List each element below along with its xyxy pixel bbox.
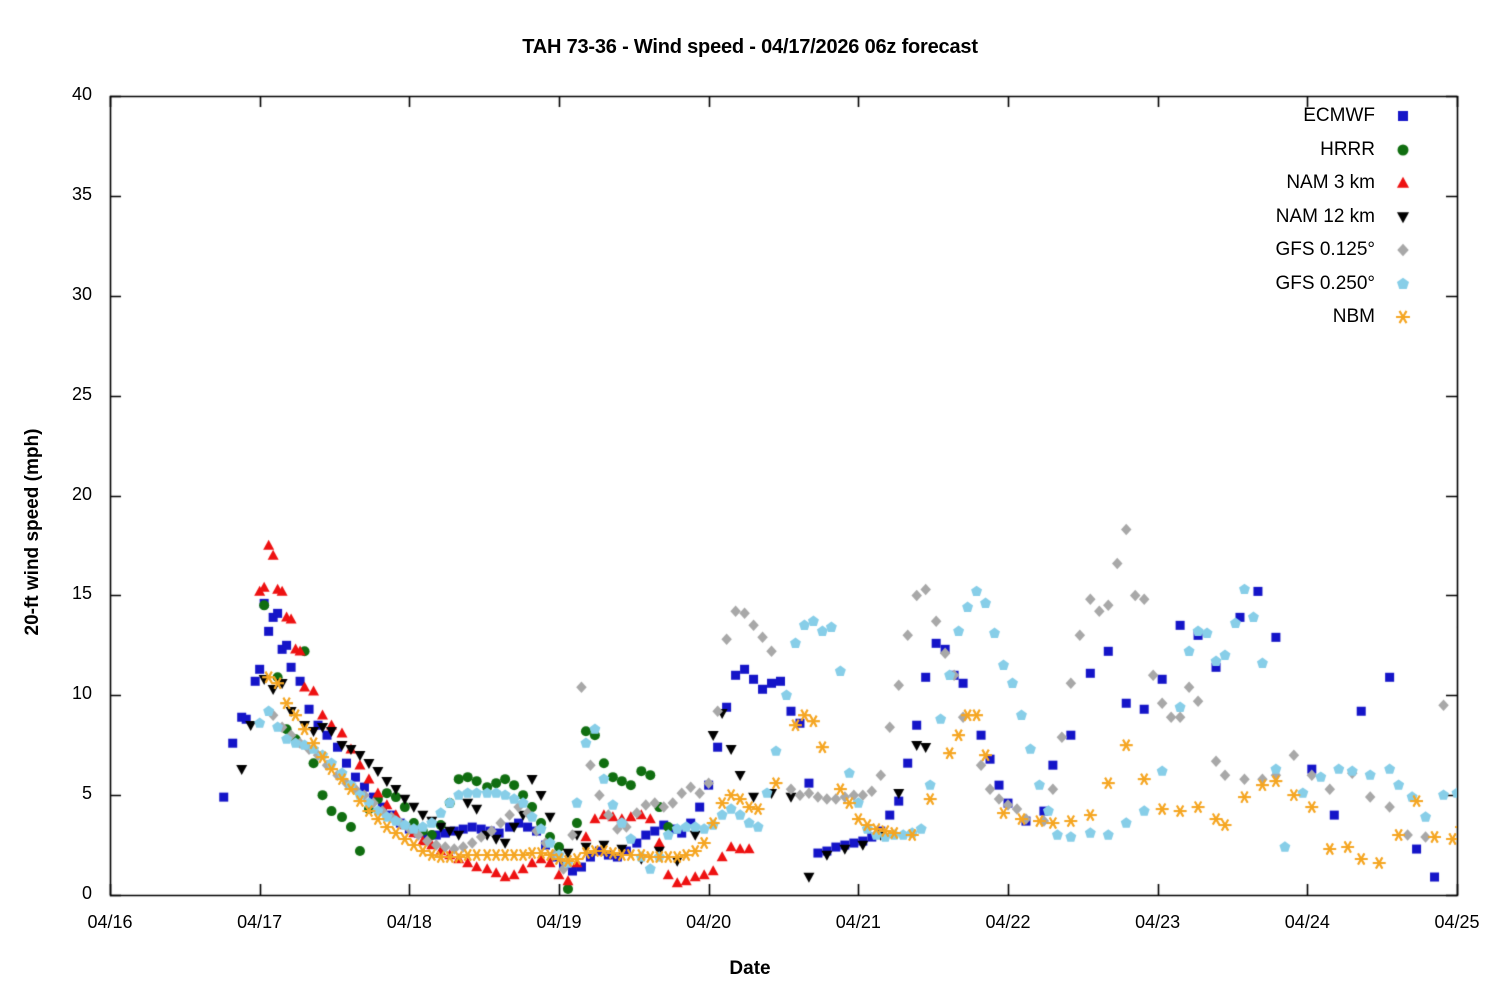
legend-marker-asterisk-icon xyxy=(1390,304,1416,330)
legend-marker-pentagon-icon xyxy=(1390,271,1416,297)
x-tick-label: 04/24 xyxy=(1247,912,1367,933)
wind-speed-forecast-chart: TAH 73-36 - Wind speed - 04/17/2026 06z … xyxy=(0,0,1500,1000)
x-tick-label: 04/17 xyxy=(200,912,320,933)
legend-marker-diamond-icon xyxy=(1390,237,1416,263)
legend-marker-triangle-up-icon xyxy=(1390,170,1416,196)
legend-label-gfs-0-250: GFS 0.250° xyxy=(1075,273,1375,295)
legend-marker-circle-icon xyxy=(1390,137,1416,163)
x-tick-label: 04/22 xyxy=(948,912,1068,933)
y-tick-label: 40 xyxy=(30,84,92,105)
y-tick-label: 10 xyxy=(30,683,92,704)
x-tick-label: 04/16 xyxy=(50,912,170,933)
x-tick-label: 04/18 xyxy=(349,912,469,933)
x-tick-label: 04/21 xyxy=(798,912,918,933)
x-tick-label: 04/25 xyxy=(1397,912,1500,933)
y-tick-label: 20 xyxy=(30,484,92,505)
legend-marker-triangle-down-icon xyxy=(1390,204,1416,230)
x-tick-label: 04/20 xyxy=(649,912,769,933)
legend-label-ecmwf: ECMWF xyxy=(1075,105,1375,127)
y-tick-label: 5 xyxy=(30,783,92,804)
legend-marker-square-icon xyxy=(1390,103,1416,129)
chart-title: TAH 73-36 - Wind speed - 04/17/2026 06z … xyxy=(0,36,1500,59)
legend-label-hrrr: HRRR xyxy=(1075,139,1375,161)
legend-label-nbm: NBM xyxy=(1075,306,1375,328)
x-axis-title: Date xyxy=(0,958,1500,980)
legend-label-nam-12-km: NAM 12 km xyxy=(1075,206,1375,228)
x-tick-label: 04/23 xyxy=(1098,912,1218,933)
y-tick-label: 15 xyxy=(30,583,92,604)
y-tick-label: 30 xyxy=(30,284,92,305)
y-tick-label: 25 xyxy=(30,384,92,405)
legend-label-gfs-0-125: GFS 0.125° xyxy=(1075,239,1375,261)
legend-label-nam-3-km: NAM 3 km xyxy=(1075,172,1375,194)
x-tick-label: 04/19 xyxy=(499,912,619,933)
y-tick-label: 0 xyxy=(30,883,92,904)
y-tick-label: 35 xyxy=(30,184,92,205)
y-axis-title: 20-ft wind speed (mph) xyxy=(22,429,44,636)
